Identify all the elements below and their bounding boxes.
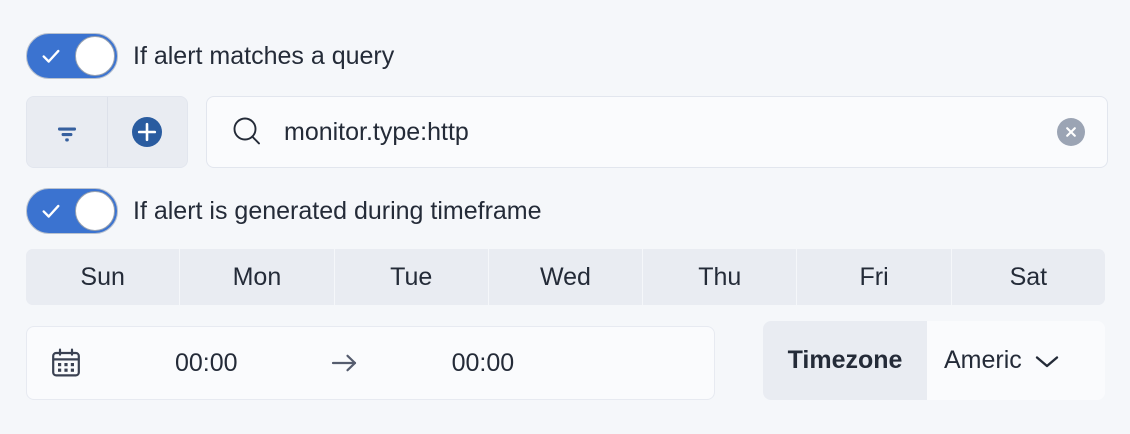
query-editor-row: monitor.type:http <box>26 96 1108 168</box>
plus-circle-icon <box>130 115 164 149</box>
alert-conditions-panel: If alert matches a query <box>0 0 1130 434</box>
day-cell-fri[interactable]: Fri <box>796 249 950 305</box>
time-range-field[interactable]: 00:00 00:00 <box>26 326 715 400</box>
day-cell-wed[interactable]: Wed <box>488 249 642 305</box>
query-search-field[interactable]: monitor.type:http <box>206 96 1108 168</box>
time-range-end[interactable]: 00:00 <box>452 349 515 378</box>
toggle-knob <box>75 191 115 231</box>
query-condition-row: If alert matches a query <box>26 33 394 79</box>
timeframe-condition-row: If alert is generated during timeframe <box>26 188 542 234</box>
search-icon <box>229 114 265 150</box>
day-cell-tue[interactable]: Tue <box>334 249 488 305</box>
arrow-right-icon <box>328 350 362 376</box>
timezone-value: Americ <box>944 346 1022 375</box>
timezone-selector: Timezone Americ <box>763 321 1105 400</box>
day-cell-sun[interactable]: Sun <box>26 249 179 305</box>
timeframe-condition-label: If alert is generated during timeframe <box>133 197 542 226</box>
day-cell-sat[interactable]: Sat <box>951 249 1105 305</box>
query-search-value: monitor.type:http <box>284 118 1107 147</box>
filter-button[interactable] <box>27 97 107 167</box>
if-alert-matches-a-query-toggle[interactable] <box>26 33 118 79</box>
time-range-start[interactable]: 00:00 <box>175 349 238 378</box>
add-query-button[interactable] <box>107 97 188 167</box>
clear-query-button[interactable] <box>1057 118 1085 146</box>
filter-icon <box>53 118 81 146</box>
query-toolbar <box>26 96 188 168</box>
toggle-knob <box>75 36 115 76</box>
day-of-week-selector: Sun Mon Tue Wed Thu Fri Sat <box>26 249 1105 305</box>
day-cell-mon[interactable]: Mon <box>179 249 333 305</box>
chevron-down-icon <box>1032 351 1062 371</box>
if-alert-is-generated-during-timeframe-toggle[interactable] <box>26 188 118 234</box>
query-condition-label: If alert matches a query <box>133 42 394 71</box>
check-icon <box>40 200 62 222</box>
clear-circle-icon <box>1063 124 1079 140</box>
day-cell-thu[interactable]: Thu <box>642 249 796 305</box>
timezone-label: Timezone <box>763 321 927 400</box>
calendar-icon <box>49 346 83 380</box>
check-icon <box>40 45 62 67</box>
timezone-dropdown[interactable]: Americ <box>927 321 1105 400</box>
